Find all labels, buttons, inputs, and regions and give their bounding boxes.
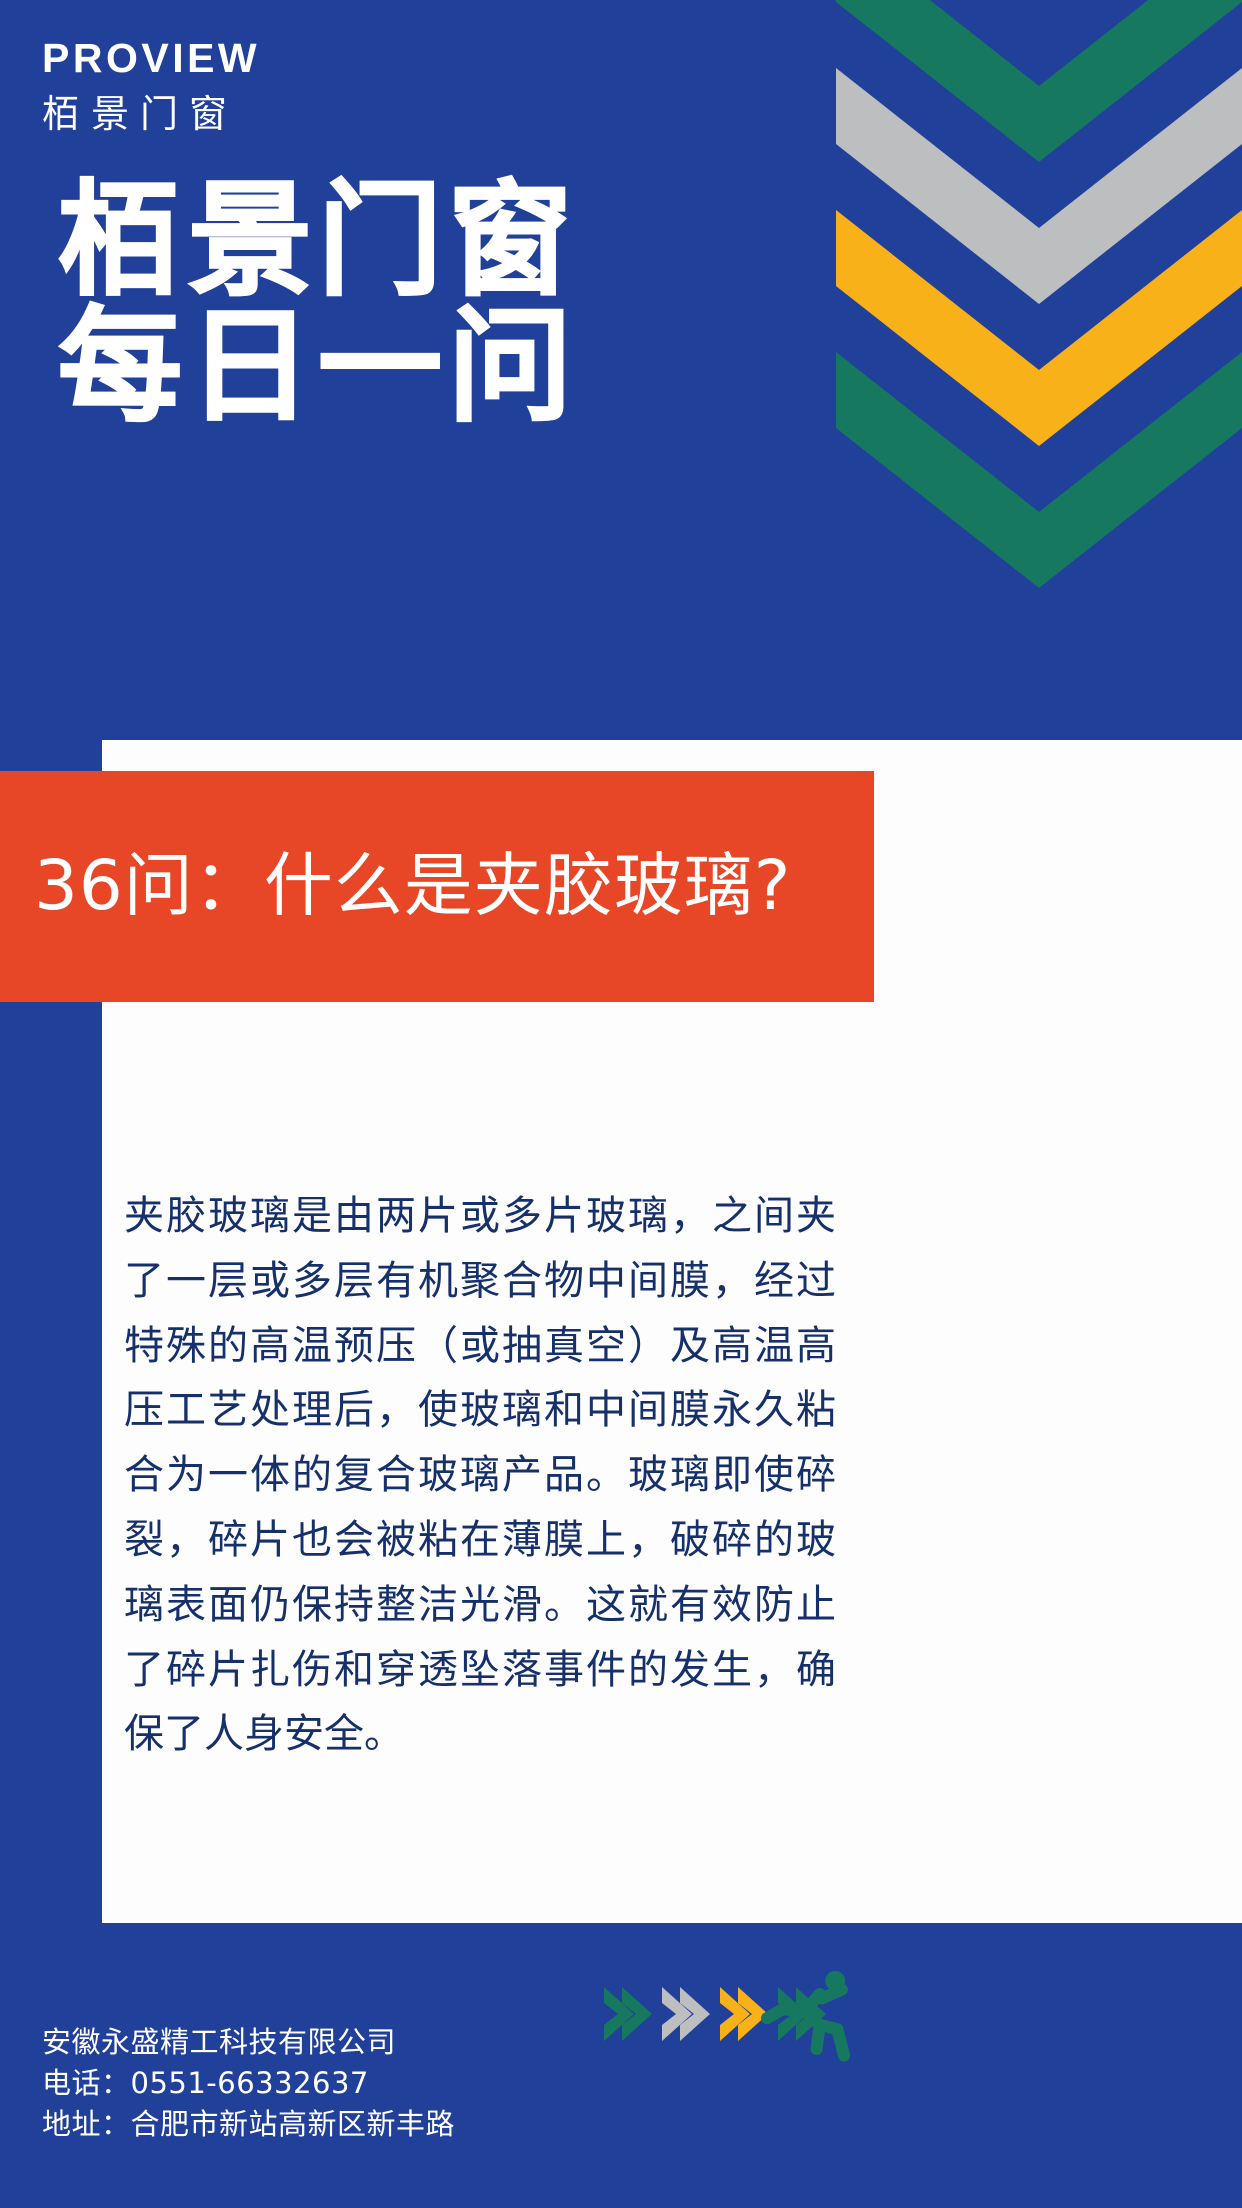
brand-logo: PROVIEW 栢景门窗 [42, 38, 260, 133]
footer: 安徽永盛精工科技有限公司 电话：0551-66332637 地址：合肥市新站高新… [0, 1923, 1242, 2208]
chevron-down-teal-2-icon [836, 352, 1242, 588]
hero-chevron-stack [836, 0, 1242, 466]
company-phone: 电话：0551-66332637 [42, 2063, 455, 2104]
chevron-right-gray-icon [658, 1985, 716, 2043]
question-banner: 36问：什么是夹胶玻璃? [0, 771, 874, 1002]
answer-paragraph: 夹胶玻璃是由两片或多片玻璃，之间夹了一层或多层有机聚合物中间膜，经过特殊的高温预… [124, 1184, 836, 1767]
logo-wordmark: PROVIEW [42, 38, 260, 79]
hero-line-1: 栢景门窗 [58, 178, 578, 304]
poster-canvas: PROVIEW 栢景门窗 栢景门窗 每日一问 36问：什么是夹胶玻璃? 夹胶玻璃… [0, 0, 1242, 2208]
chevron-right-teal-icon [600, 1985, 658, 2043]
company-contact-info: 安徽永盛精工科技有限公司 电话：0551-66332637 地址：合肥市新站高新… [42, 2022, 455, 2146]
company-address: 地址：合肥市新站高新区新丰路 [42, 2104, 455, 2145]
company-name: 安徽永盛精工科技有限公司 [42, 2022, 455, 2063]
hero-headline: 栢景门窗 每日一问 [58, 178, 578, 431]
logo-chinese-name: 栢景门窗 [42, 95, 260, 133]
hero-line-2: 每日一问 [58, 304, 578, 430]
question-banner-text: 36问：什么是夹胶玻璃? [34, 849, 791, 925]
running-person-icon [756, 1961, 866, 2071]
